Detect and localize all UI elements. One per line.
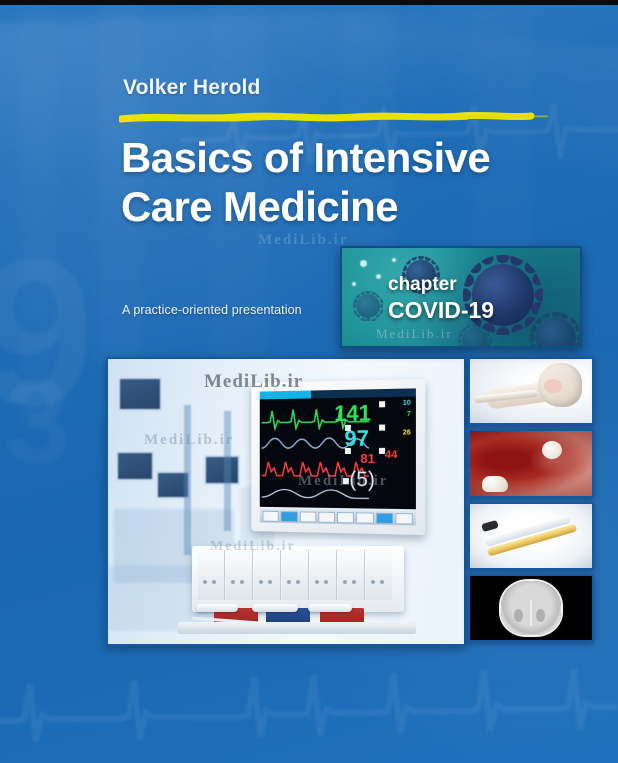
vital-spo2: 97 — [344, 428, 368, 450]
monitor-indicator — [345, 425, 351, 431]
syringe — [308, 604, 352, 612]
vital-blood-pressure-secondary: 44 — [385, 450, 398, 461]
thumbnail-brain-ct — [468, 574, 594, 642]
monitor-corner-label-1: 10 — [403, 400, 411, 407]
covid-badge-text: chapter COVID-19 — [388, 274, 494, 325]
covid-chapter-label: chapter — [388, 274, 494, 296]
monitor-corner-label-3: 26 — [403, 429, 411, 436]
monitor-indicator — [379, 425, 385, 431]
thumbnail-endoscopic-view — [468, 429, 594, 497]
main-photo-icu: 141 97 81 44 (5) 10 7 26 — [106, 357, 466, 646]
top-black-bar — [0, 0, 618, 5]
vital-heart-rate: 141 — [334, 402, 371, 425]
monitor-softkey[interactable] — [281, 511, 298, 522]
ct-ventricle — [536, 609, 545, 622]
ghost-monitor — [116, 451, 154, 481]
pump-base-shelf — [178, 622, 416, 634]
monitor-softkey[interactable] — [337, 512, 354, 523]
badge-sparkle — [352, 282, 356, 286]
badge-sparkle — [360, 260, 367, 267]
monitor-softkey[interactable] — [395, 512, 413, 524]
pump-module — [254, 550, 281, 600]
subtitle: A practice-oriented presentation — [122, 303, 302, 317]
mucosa-gloss — [529, 445, 575, 475]
monitor-softkey[interactable] — [318, 511, 335, 522]
pump-module — [338, 550, 365, 600]
ghost-monitor — [118, 377, 162, 411]
virus-particle-icon — [462, 328, 488, 348]
pump-module — [226, 550, 253, 600]
monitor-indicator — [345, 448, 351, 454]
monitor-indicator — [343, 478, 349, 484]
covid-topic-label: COVID-19 — [388, 297, 494, 324]
monitor-indicator — [379, 448, 385, 454]
pump-housing — [192, 546, 404, 612]
patient-monitor: 141 97 81 44 (5) 10 7 26 — [251, 379, 425, 535]
badge-sparkle — [376, 274, 381, 279]
vital-blood-pressure: 81 — [360, 452, 375, 465]
thumbnail-catheter-set — [468, 502, 594, 570]
pump-module — [310, 550, 337, 600]
title-line-1: Basics of Intensive — [121, 134, 490, 181]
badge-sparkle — [392, 258, 396, 262]
catheter-tip — [481, 519, 499, 531]
monitor-softkey[interactable] — [356, 512, 373, 523]
author-name: Volker Herold — [123, 76, 261, 100]
monitor-softkey[interactable] — [263, 510, 279, 521]
monitor-softkey[interactable] — [375, 512, 393, 523]
monitor-corner-label-2: 7 — [407, 411, 411, 418]
thumbnail-airway-manikin — [468, 357, 594, 425]
virus-particle-icon — [536, 318, 576, 348]
monitor-softkey-bar[interactable] — [260, 509, 416, 526]
pump-module — [366, 550, 392, 600]
thumbnail-strip — [468, 357, 594, 642]
vital-respiration: (5) — [349, 469, 375, 490]
syringe — [196, 604, 238, 612]
pump-module — [282, 550, 309, 600]
monitor-screen: 141 97 81 44 (5) 10 7 26 — [260, 388, 416, 509]
anatomic-highlight — [482, 476, 508, 492]
monitor-softkey[interactable] — [299, 511, 316, 522]
virus-particle-icon — [356, 294, 380, 318]
background-ghost-numeral-secondary: 3 — [4, 352, 71, 490]
ct-midline — [530, 600, 532, 626]
monitor-indicator — [379, 401, 385, 407]
airway-cuff — [544, 379, 562, 393]
ghost-monitor — [204, 455, 240, 485]
title-line-2: Care Medicine — [121, 183, 591, 232]
covid-chapter-badge: chapter COVID-19 MediLib.ir — [340, 246, 582, 348]
page-title: Basics of Intensive Care Medicine — [121, 134, 591, 231]
book-cover: 9 3 Volker Herold Basics of Intensive Ca… — [0, 0, 618, 763]
syringe — [252, 604, 298, 612]
yellow-highlight-stroke — [119, 112, 549, 123]
pump-module — [198, 550, 225, 600]
monitor-status-bar — [260, 388, 416, 399]
infusion-pump-stack — [192, 546, 404, 634]
badge-watermark: MediLib.ir — [376, 326, 453, 342]
